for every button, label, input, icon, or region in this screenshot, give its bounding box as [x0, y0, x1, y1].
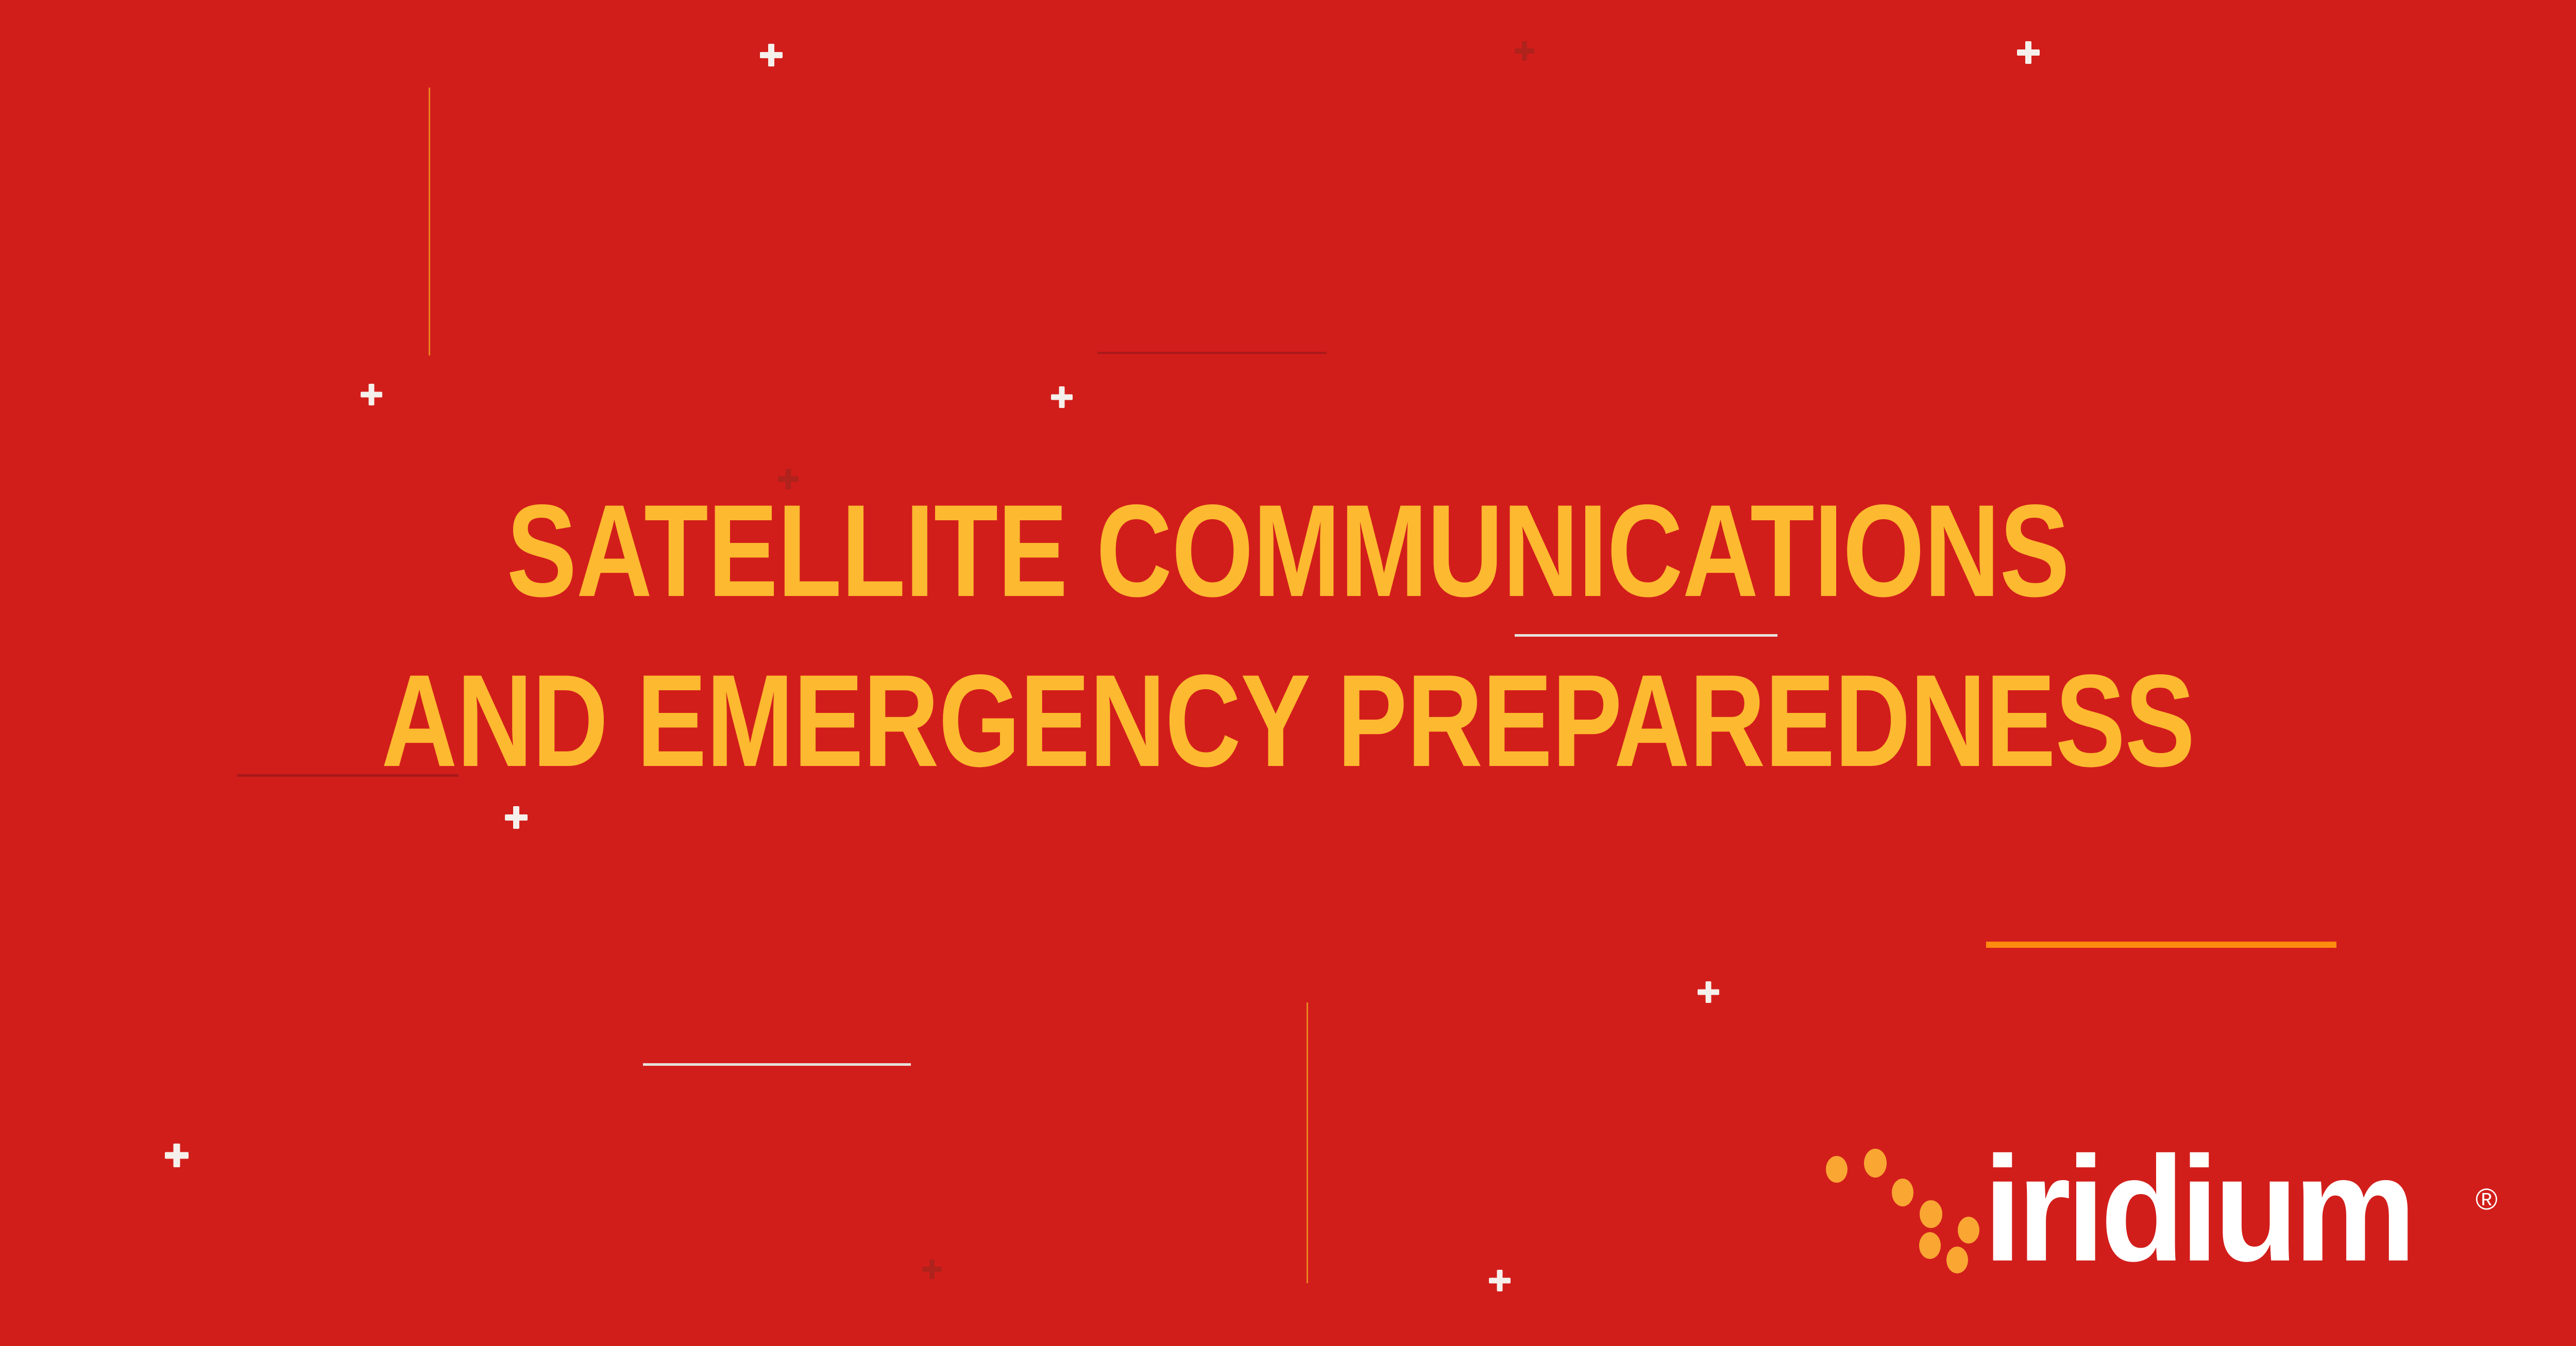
line-horiz-dark-topright [1097, 352, 1327, 354]
plus-top-left-1-icon [361, 384, 382, 405]
plus-top-mid-1-icon [760, 44, 783, 66]
banner-canvas: SATELLITE COMMUNICATIONS AND EMERGENCY P… [0, 0, 2576, 1346]
iridium-wordmark: iridium [1984, 1134, 2412, 1284]
iridium-logo: iridium ® [1814, 1149, 2535, 1319]
page-title-line-2: AND EMERGENCY PREPAREDNESS [258, 636, 2318, 806]
plus-bottom-left-icon [922, 1259, 942, 1279]
plus-top-right-2-icon [1515, 41, 1534, 61]
logo-dot-2 [1864, 1149, 1887, 1178]
page-title-line-1: SATELLITE COMMUNICATIONS [258, 466, 2318, 636]
logo-dot-1 [1826, 1156, 1848, 1183]
registered-trademark-icon: ® [2476, 1185, 2498, 1215]
logo-dot-5 [1919, 1232, 1941, 1259]
line-horiz-white-bottom [643, 1063, 911, 1066]
plus-top-mid-2-icon [1051, 386, 1073, 408]
logo-dot-4 [1920, 1200, 1942, 1228]
plus-mid-left-icon [505, 806, 528, 829]
plus-top-right-1-icon [2017, 41, 2040, 64]
line-horiz-orange-right [1986, 942, 2336, 948]
line-vert-orange-bottom [1307, 1002, 1308, 1283]
plus-bottom-mid-icon [1489, 1270, 1511, 1291]
logo-dot-6 [1958, 1217, 1979, 1243]
logo-dot-3 [1892, 1179, 1913, 1206]
line-vert-orange-top [429, 88, 430, 355]
plus-lower-left-icon [165, 1144, 189, 1167]
logo-dot-7 [1946, 1247, 1968, 1273]
page-title: SATELLITE COMMUNICATIONS AND EMERGENCY P… [258, 466, 2318, 806]
plus-lower-mid-icon [1698, 981, 1719, 1003]
iridium-orbit-dots-icon [1814, 1149, 1984, 1298]
